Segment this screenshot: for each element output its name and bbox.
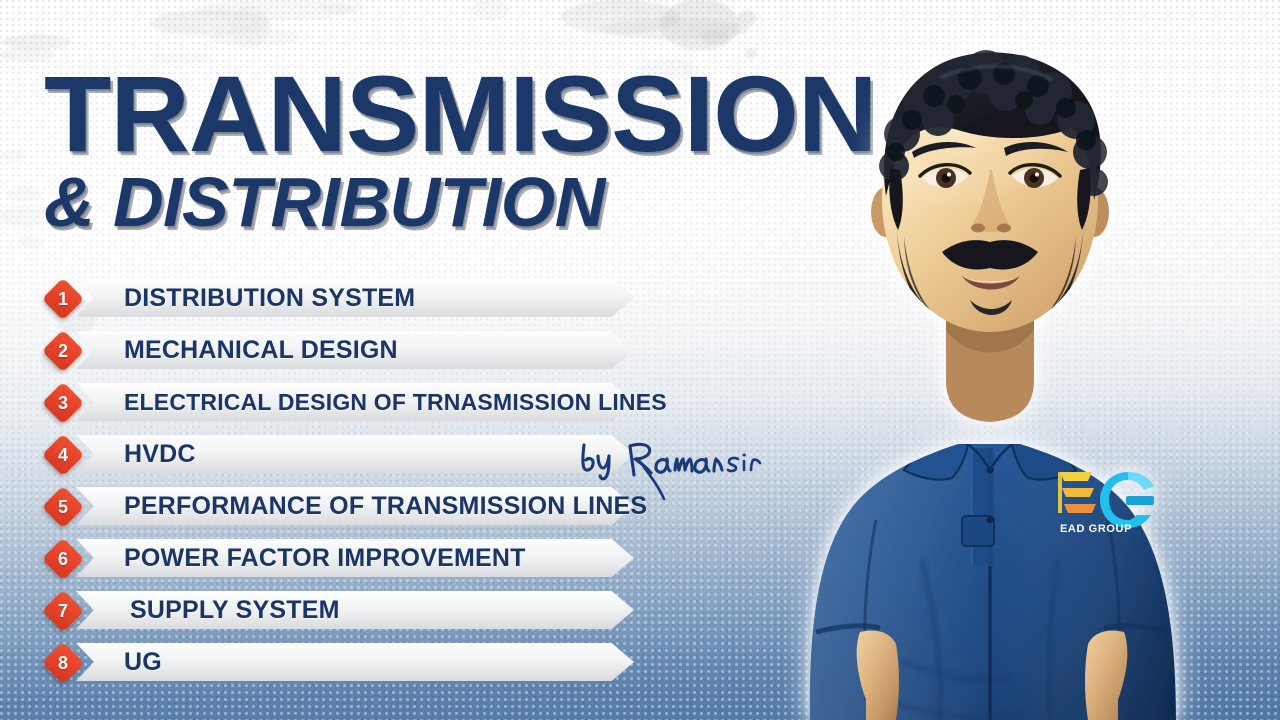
topic-label: ELECTRICAL DESIGN OF TRNASMISSION LINES [124, 383, 667, 421]
list-item[interactable]: 1 DISTRIBUTION SYSTEM [48, 279, 608, 317]
list-item[interactable]: 3 ELECTRICAL DESIGN OF TRNASMISSION LINE… [48, 383, 608, 421]
number-badge [42, 278, 84, 320]
topic-label: HVDC [124, 435, 196, 473]
number-badge [42, 486, 84, 528]
topic-list: 1 DISTRIBUTION SYSTEM 2 MECHANICAL DESIG… [48, 279, 608, 695]
list-item[interactable]: 4 HVDC [48, 435, 608, 473]
presenter-photo: EAD GROUP [690, 0, 1280, 720]
thumbnail-canvas: TRANSMISSION & DISTRIBUTION 1 DISTRIBUTI… [0, 0, 1280, 720]
list-item[interactable]: 8 UG [48, 643, 608, 681]
number-badge [42, 434, 84, 476]
topic-label: POWER FACTOR IMPROVEMENT [124, 539, 526, 577]
number-badge [42, 382, 84, 424]
list-item[interactable]: 6 POWER FACTOR IMPROVEMENT [48, 539, 608, 577]
list-item[interactable]: 7 SUPPLY SYSTEM [48, 591, 608, 629]
list-item[interactable]: 5 PERFORMANCE OF TRANSMISSION LINES [48, 487, 608, 525]
number-badge [42, 590, 84, 632]
topic-label: SUPPLY SYSTEM [130, 591, 340, 629]
topic-label: DISTRIBUTION SYSTEM [124, 279, 415, 317]
number-badge [42, 642, 84, 684]
topic-label: PERFORMANCE OF TRANSMISSION LINES [124, 487, 647, 525]
number-badge [42, 538, 84, 580]
shirt-logo-text: EAD GROUP [1060, 523, 1132, 535]
list-item[interactable]: 2 MECHANICAL DESIGN [48, 331, 608, 369]
topic-label: MECHANICAL DESIGN [124, 331, 398, 369]
number-badge [42, 330, 84, 372]
topic-label: UG [124, 643, 162, 681]
